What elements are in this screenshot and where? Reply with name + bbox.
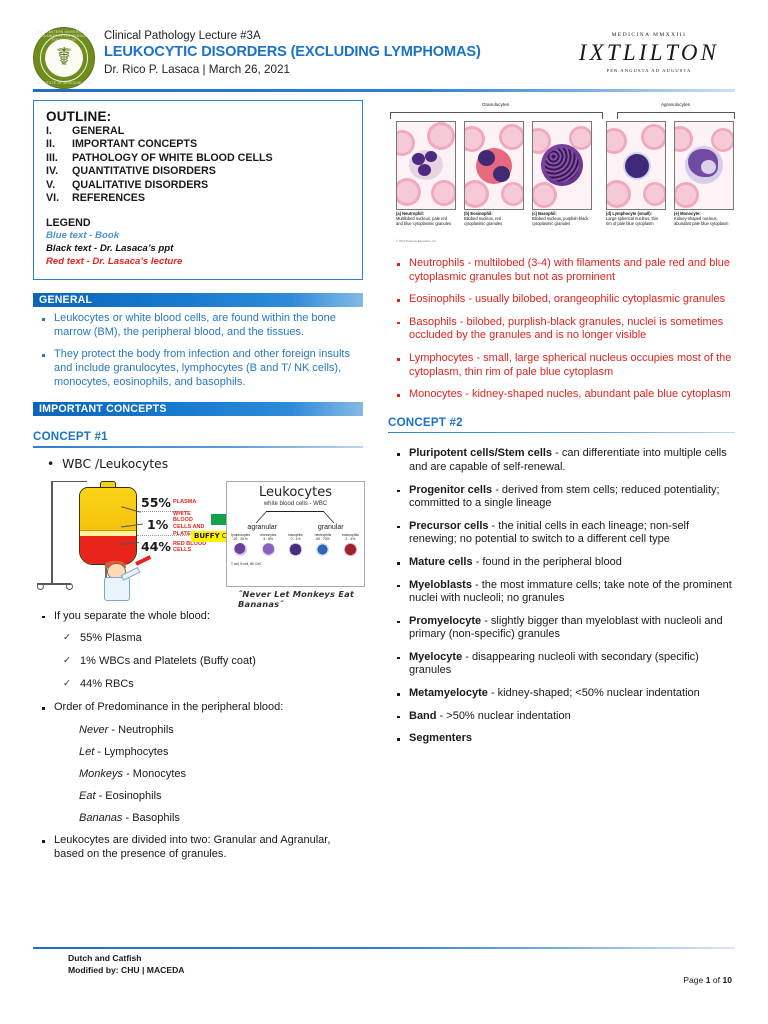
wordmark-name: IXTLILTON <box>563 39 735 66</box>
leukocyte-cell-icons <box>227 543 364 561</box>
category-agranular: agranular <box>247 524 277 531</box>
caption-lymphocyte: (d) Lymphocyte (small):Large spherical n… <box>606 211 664 226</box>
rbc-label: RED BLOOD CELLS <box>173 541 213 554</box>
mnemonic-list: Never - Neutrophils Let - Lymphocytes Mo… <box>33 724 363 825</box>
seal-bottom-arc-text: INSTITUTE OF MEDICINE 1988 <box>34 81 94 85</box>
leukocytes-chart-box: Leukocytes white blood cells - WBC agran… <box>226 481 365 587</box>
micrograph-eosinophil <box>464 121 524 210</box>
leukocytes-chart-subtitle: white blood cells - WBC <box>227 501 364 507</box>
list-item: Leukocytes are divided into two: Granula… <box>33 834 363 861</box>
footer-line-2: Modified by: CHU | MACEDA <box>68 965 185 977</box>
list-item: They protect the body from infection and… <box>33 348 363 389</box>
concept2-title: CONCEPT #2 <box>388 416 735 432</box>
document-page: FAR EASTERN UNIVERSITY – NICANOR REYES M… <box>0 0 768 1024</box>
bracket-agranulocytes <box>617 112 735 119</box>
outline-item-5: V. QUALITATIVE DISORDERS <box>46 179 352 192</box>
iv-pole-wheel <box>37 583 44 590</box>
plasma-percent: 55% <box>141 495 171 510</box>
concept2-bullet-list: Pluripotent cells/Stem cells - can diffe… <box>388 447 735 746</box>
concept1-subbullet: • WBC /Leukocytes <box>47 457 363 471</box>
list-item: 44% RBCs <box>63 678 363 691</box>
concept2-header: CONCEPT #2 <box>388 416 735 434</box>
outline-item-2: II. IMPORTANT CONCEPTS <box>46 138 352 151</box>
image-credit: © 2013 Pearson Education, Inc. <box>396 239 437 243</box>
wordmark-top: MEDICINA MMXXIII <box>563 32 735 38</box>
lecture-subtitle: Clinical Pathology Lecture #3A <box>104 29 481 43</box>
page-number: Page 1 of 10 <box>683 975 732 985</box>
leukocyte-categories: agranular granular <box>227 524 364 531</box>
list-item: Eosinophils - usually bilobed, orangeoph… <box>388 293 735 307</box>
micrograph-lymphocyte <box>606 121 666 210</box>
basophil-cell-icon <box>289 543 302 556</box>
outline-box: OUTLINE: I. GENERAL II. IMPORTANT CONCEP… <box>33 100 363 280</box>
list-item: If you separate the whole blood: <box>33 610 363 624</box>
outline-title: OUTLINE: <box>46 109 352 124</box>
iv-pole-wheel <box>66 583 73 590</box>
list-item: Lymphocytes - small, large spherical nuc… <box>388 352 735 379</box>
blood-fraction-checklist: 55% Plasma 1% WBCs and Platelets (Buffy … <box>33 632 363 691</box>
wordmark-motto: PER ANGUSTA AD AUGUSTA <box>563 68 735 73</box>
concept1-header: CONCEPT #1 <box>33 430 363 448</box>
whole-blood-bullet: If you separate the whole blood: <box>33 610 363 624</box>
list-item: Metamyelocyte - kidney-shaped; <50% nucl… <box>388 687 735 701</box>
rbc-percent: 44% <box>141 539 171 554</box>
micrograph-monocyte <box>674 121 734 210</box>
org-wordmark: MEDICINA MMXXIII IXTLILTON PER ANGUSTA A… <box>563 32 735 73</box>
legend-red: Red text - Dr. Lasaca’s lecture <box>46 256 352 269</box>
list-item: Leukocytes or white blood cells, are fou… <box>33 312 363 339</box>
rod-of-asclepius-icon: ☤ <box>34 44 94 70</box>
legend-blue: Blue text - Book <box>46 230 352 243</box>
list-item: Bananas - Basophils <box>79 812 363 825</box>
subtype: monocytes3 - 8% <box>254 533 281 542</box>
micrograph-basophil <box>532 121 592 210</box>
footer-divider <box>33 947 735 949</box>
iv-pole-bar <box>51 481 87 483</box>
syringe-icon <box>135 555 151 566</box>
list-item: Promyelocyte - slightly bigger than myel… <box>388 615 735 642</box>
page-header: FAR EASTERN UNIVERSITY – NICANOR REYES M… <box>0 0 768 92</box>
list-item: Eat - Eosinophils <box>79 790 363 803</box>
plasma-label: PLASMA <box>173 499 219 506</box>
outline-item-label: QUANTITATIVE DISORDERS <box>72 165 216 178</box>
bracket-granulocytes <box>390 112 603 119</box>
outline-item-label: IMPORTANT CONCEPTS <box>72 138 197 151</box>
header-divider <box>33 89 735 92</box>
header-text-block: Clinical Pathology Lecture #3A LEUKOCYTI… <box>104 29 481 77</box>
outline-item-label: QUALITATIVE DISORDERS <box>72 179 208 192</box>
branch-connector <box>227 510 364 524</box>
micrograph-panel: Granulocytes Agranulocytes <box>388 100 735 245</box>
list-item: 1% WBCs and Platelets (Buffy coat) <box>63 655 363 668</box>
category-granular: granular <box>318 524 344 531</box>
caption-neutrophil: (a) Neutrophil:Multilobed nucleus, pale … <box>396 211 454 226</box>
page-title: LEUKOCYTIC DISORDERS (EXCLUDING LYMPHOMA… <box>104 43 481 62</box>
blood-composition-illustration: 55% PLASMA 1% WHITE BLOOD CELLS AND PLAT… <box>33 473 363 605</box>
mnemonic-caption: ˝Never Let Monkeys Eat Bananas˝ <box>238 589 363 609</box>
leukocyte-subtypes: lymphocytes20 - 25 % monocytes3 - 8% bas… <box>227 533 364 542</box>
subtype: lymphocytes20 - 25 % <box>227 533 254 542</box>
outline-item-label: GENERAL <box>72 125 124 138</box>
monocyte-cell-icon <box>262 543 275 556</box>
list-item: 55% Plasma <box>63 632 363 645</box>
list-item: Monkeys - Monocytes <box>79 768 363 781</box>
left-column: OUTLINE: I. GENERAL II. IMPORTANT CONCEP… <box>33 100 363 870</box>
neutrophil-cell-icon <box>316 543 329 556</box>
caption-monocyte: (e) Monocyte:Kidney-shaped nucleus, abun… <box>674 211 732 226</box>
micrograph-neutrophil <box>396 121 456 210</box>
general-bullet-list: Leukocytes or white blood cells, are fou… <box>33 312 363 389</box>
chart-footnote: T cell, B cell, NK Cell <box>231 562 364 566</box>
section-header-important-concepts: IMPORTANT CONCEPTS <box>33 402 363 416</box>
outline-item-1: I. GENERAL <box>46 125 352 138</box>
list-item: Precursor cells - the initial cells in e… <box>388 520 735 547</box>
subtype: basophils0 - 1% <box>282 533 309 542</box>
list-item: Let - Lymphocytes <box>79 746 363 759</box>
list-item: Pluripotent cells/Stem cells - can diffe… <box>388 447 735 474</box>
outline-item-4: IV. QUANTITATIVE DISORDERS <box>46 165 352 178</box>
legend-black: Black text - Dr. Lasaca’s ppt <box>46 243 352 256</box>
eosinophil-cell-icon <box>344 543 357 556</box>
granular-agranular-bullet: Leukocytes are divided into two: Granula… <box>33 834 363 861</box>
list-item: Mature cells - found in the peripheral b… <box>388 556 735 570</box>
lecturer-and-date: Dr. Rico P. Lasaca | March 26, 2021 <box>104 62 481 77</box>
subtype: eosinophils2 - 4% <box>337 533 364 542</box>
footer-line-1: Dutch and Catfish <box>68 953 185 965</box>
legend-title: LEGEND <box>46 216 352 230</box>
cell-description-list: Neutrophils - multilobed (3-4) with fila… <box>388 257 735 402</box>
right-column: Granulocytes Agranulocytes <box>388 100 735 755</box>
caption-eosinophil: (b) Eosinophil:Bilobed nucleus, red cyto… <box>464 211 522 226</box>
order-predominance-bullet: Order of Predominance in the peripheral … <box>33 701 363 715</box>
leukocytes-chart-title: Leukocytes <box>227 485 364 500</box>
outline-item-label: PATHOLOGY OF WHITE BLOOD CELLS <box>72 152 273 165</box>
outline-item-3: III. PATHOLOGY OF WHITE BLOOD CELLS <box>46 152 352 165</box>
iv-pole <box>51 481 53 585</box>
list-item: Monocytes - kidney-shaped nucles, abunda… <box>388 388 735 402</box>
outline-item-6: VI. REFERENCES <box>46 192 352 205</box>
concept2-underline <box>388 432 735 434</box>
list-item: Segmenters <box>388 732 735 746</box>
outline-item-label: REFERENCES <box>72 192 145 205</box>
list-item: Never - Neutrophils <box>79 724 363 737</box>
group-label-granulocytes: Granulocytes <box>388 102 603 107</box>
footer-credits: Dutch and Catfish Modified by: CHU | MAC… <box>68 953 185 976</box>
concept1-underline <box>33 446 363 448</box>
concept1-title: CONCEPT #1 <box>33 430 363 446</box>
doctor-cartoon-icon <box>95 559 141 603</box>
list-item: Band - >50% nuclear indentation <box>388 710 735 724</box>
caption-basophil: (c) Basophil:Bilobed nucleus, purplish-b… <box>532 211 590 226</box>
list-item: Basophils - bilobed, purplish-black gran… <box>388 316 735 343</box>
section-header-general: GENERAL <box>33 293 363 307</box>
subtype: neutrophils60 - 70% <box>309 533 336 542</box>
lymphocyte-cell-icon <box>234 543 247 556</box>
list-item: Neutrophils - multilobed (3-4) with fila… <box>388 257 735 284</box>
list-item: Myelocyte - disappearing nucleoli with s… <box>388 651 735 678</box>
group-label-agranulocytes: Agranulocytes <box>616 102 735 107</box>
list-item: Myeloblasts - the most immature cells; t… <box>388 579 735 606</box>
university-seal-logo: FAR EASTERN UNIVERSITY – NICANOR REYES M… <box>33 27 95 89</box>
list-item: Order of Predominance in the peripheral … <box>33 701 363 715</box>
wbc-percent: 1% <box>147 517 168 532</box>
list-item: Progenitor cells - derived from stem cel… <box>388 484 735 511</box>
